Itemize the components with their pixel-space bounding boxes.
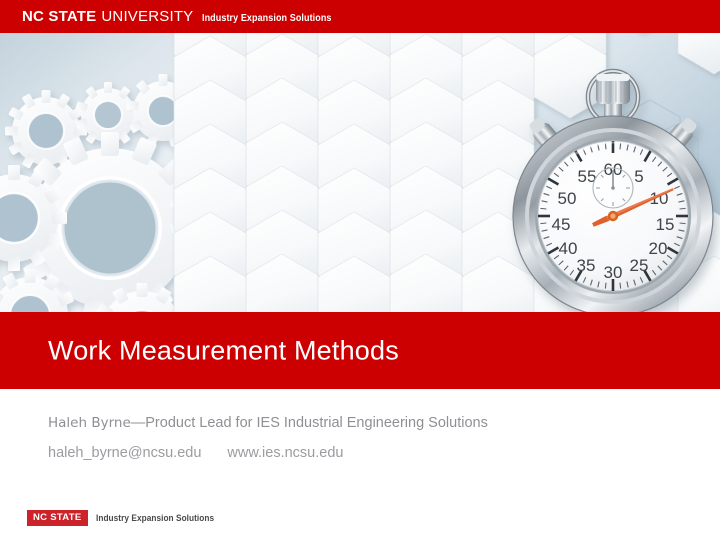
brand-secondary-text: UNIVERSITY [101,8,193,25]
presenter-name: Haleh Byrne [48,415,131,431]
svg-text:15: 15 [656,215,675,234]
presenter-role: —Product Lead for IES Industrial Enginee… [131,415,488,431]
title-band: Work Measurement Methods [0,312,720,389]
svg-text:20: 20 [649,239,668,258]
svg-text:40: 40 [559,239,578,258]
svg-text:30: 30 [604,263,623,282]
svg-text:45: 45 [552,215,571,234]
footer-tagline: Industry Expansion Solutions [96,513,214,523]
hero-graphic: 60 5 10 15 20 25 30 35 40 45 50 55 [0,33,720,312]
footer-brand-box: NC STATE [27,510,88,526]
subtitle-area: Haleh Byrne—Product Lead for IES Industr… [0,389,720,540]
website-link[interactable]: www.ies.ncsu.edu [227,445,343,461]
nc-state-header-logo: NC STATE UNIVERSITY Industry Expansion S… [22,8,346,25]
contact-line: haleh_byrne@ncsu.eduwww.ies.ncsu.edu [48,445,343,461]
page-title: Work Measurement Methods [48,335,399,366]
header-tagline-text: Industry Expansion Solutions [202,13,332,24]
brand-primary-text: NC STATE [22,8,96,25]
byline: Haleh Byrne—Product Lead for IES Industr… [48,415,488,431]
svg-text:35: 35 [577,256,596,275]
email-link[interactable]: haleh_byrne@ncsu.edu [48,445,201,461]
svg-text:5: 5 [634,167,643,186]
top-header-bar: NC STATE UNIVERSITY Industry Expansion S… [0,0,720,33]
footer-logo: NC STATE Industry Expansion Solutions [27,510,224,526]
svg-text:50: 50 [558,189,577,208]
hero-image-band: 60 5 10 15 20 25 30 35 40 45 50 55 [0,33,720,312]
svg-text:25: 25 [630,256,649,275]
